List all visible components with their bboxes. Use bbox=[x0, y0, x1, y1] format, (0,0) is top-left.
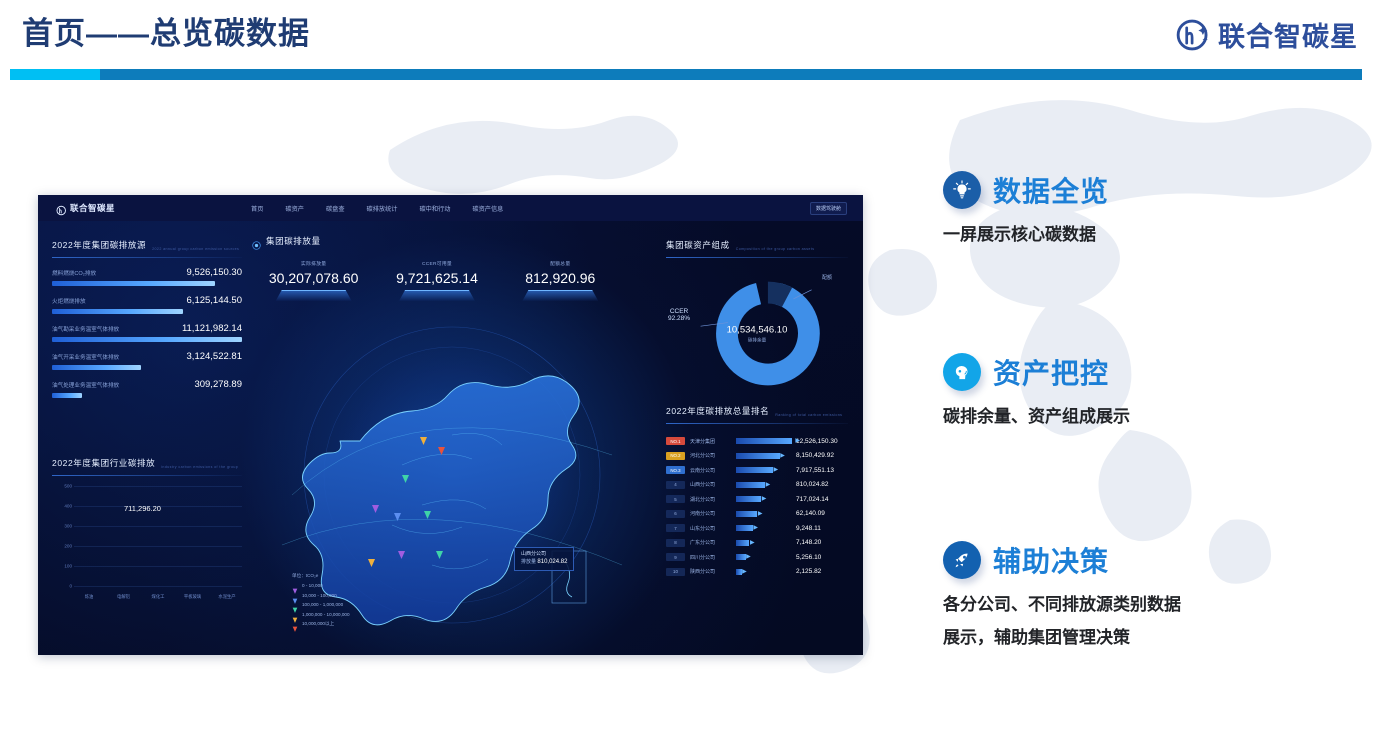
source-progress-bar bbox=[52, 393, 82, 398]
rank-value: 810,024.82 bbox=[796, 481, 848, 488]
feature-title: 资产把控 bbox=[993, 352, 1109, 392]
legend-pin-icon bbox=[292, 611, 298, 618]
dashboard-logo: 联合智碳星 bbox=[56, 202, 115, 214]
ranking-list: NO.1 天津分集团 ▶ 12,526,150.30 NO.2 河北分公司 ▶ bbox=[666, 434, 848, 579]
legend-label: 10,000,000以上 bbox=[302, 621, 334, 627]
rank-company: 广东分公司 bbox=[690, 539, 732, 546]
rank-company: 山东分公司 bbox=[690, 525, 732, 532]
map-tooltip: 山西分公司 排放量 810,024.82 bbox=[514, 547, 574, 571]
source-value: 3,124,522.81 bbox=[187, 351, 242, 362]
legend-pin-icon bbox=[292, 620, 298, 627]
table-row: NO.2 河北分公司 ▶ 8,150,429.92 bbox=[666, 449, 848, 464]
kpi-label: 配额总量 bbox=[502, 260, 618, 267]
rank-badge: 6 bbox=[666, 510, 685, 518]
legend-label: 0 - 10,000 bbox=[302, 583, 323, 588]
rank-bar-track: ▶ bbox=[736, 482, 792, 488]
rank-bar-track: ▶ bbox=[736, 511, 792, 517]
rank-company: 河北分公司 bbox=[690, 452, 732, 459]
source-label: 燃料燃烧CO₂排放 bbox=[52, 269, 96, 277]
head-profile-icon bbox=[943, 353, 981, 391]
rank-badge: 8 bbox=[666, 539, 685, 547]
tooltip-metric-value: 810,024.82 bbox=[537, 559, 567, 565]
source-value: 9,526,150.30 bbox=[187, 267, 242, 278]
dashboard-menu-item-1[interactable]: 碳资产 bbox=[285, 204, 304, 213]
panel-subtitle: industry carbon emissions of the group bbox=[161, 465, 238, 469]
donut-center-label: 10,534,546.10 碳排余量 bbox=[727, 324, 788, 343]
divider-main-segment bbox=[100, 69, 1362, 80]
feature-asset-control: 资产把控 碳排余量、资产组成展示 bbox=[943, 352, 1343, 433]
emission-source-item: 油气处理业务温室气体排放 309,278.89 bbox=[52, 379, 242, 398]
feature-description-line: 展示，辅助集团管理决策 bbox=[943, 621, 1343, 654]
kpi-label: CCER可用量 bbox=[379, 260, 495, 267]
target-dot-icon bbox=[252, 237, 261, 246]
rank-badge: 9 bbox=[666, 553, 685, 561]
rank-company: 湖北分公司 bbox=[690, 496, 732, 503]
feature-header: 资产把控 bbox=[943, 352, 1343, 392]
rank-badge: NO.2 bbox=[666, 452, 685, 460]
slide-root: 首页——总览碳数据 联合智碳星 bbox=[0, 0, 1376, 737]
legend-title: 单位：tCO₂e bbox=[292, 573, 350, 579]
rank-bar-track: ▶ bbox=[736, 467, 792, 473]
dashboard-menu[interactable]: 首页 碳资产 碳盘查 碳排放统计 碳中和行动 碳资产信息 bbox=[251, 204, 503, 213]
legend-label: 1,000,000 - 10,000,000 bbox=[302, 612, 350, 617]
feature-description-line: 各分公司、不同排放源类别数据 bbox=[943, 588, 1343, 621]
source-label: 油气处理业务温室气体排放 bbox=[52, 381, 119, 389]
rank-bar-track: ▶ bbox=[736, 453, 792, 459]
dashboard-navbar: 联合智碳星 首页 碳资产 碳盘查 碳排放统计 碳中和行动 碳资产信息 数据驾驶舱 bbox=[38, 195, 863, 221]
kpi-label: 实际排放量 bbox=[256, 260, 372, 267]
panel-header: 2022年度集团行业碳排放 industry carbon emissions … bbox=[52, 457, 242, 469]
legend-item: 0 - 10,000 bbox=[292, 582, 350, 589]
rank-company: 陕西分公司 bbox=[690, 568, 732, 575]
rank-badge: 10 bbox=[666, 568, 685, 576]
emission-source-item: 油气开采业务温室气体排放 3,124,522.81 bbox=[52, 351, 242, 370]
chart-bars bbox=[78, 486, 238, 586]
table-row: 4 山西分公司 ▶ 810,024.82 bbox=[666, 478, 848, 493]
dashboard-menu-item-2[interactable]: 碳盘查 bbox=[326, 204, 345, 213]
legend-item: 10,000,000以上 bbox=[292, 620, 350, 627]
panel-title: 2022年度集团行业碳排放 bbox=[52, 457, 155, 469]
table-row: NO.1 天津分集团 ▶ 12,526,150.30 bbox=[666, 434, 848, 449]
rank-value: 5,256.10 bbox=[796, 554, 848, 561]
panel-subtitle: Ranking of total carbon emissions bbox=[775, 413, 842, 417]
table-row: 7 山东分公司 ▶ 9,248.11 bbox=[666, 521, 848, 536]
rank-bar-track: ▶ bbox=[736, 569, 792, 575]
feature-decision-support: 辅助决策 各分公司、不同排放源类别数据 展示，辅助集团管理决策 bbox=[943, 540, 1343, 654]
chart-gridline bbox=[74, 586, 242, 587]
legend-label: 100,000 - 1,000,000 bbox=[302, 602, 343, 607]
chart-plot-area: 500 400 300 200 100 0 711,296.20 bbox=[52, 486, 242, 604]
feature-description: 各分公司、不同排放源类别数据 展示，辅助集团管理决策 bbox=[943, 588, 1343, 654]
group-emissions-panel: 集团碳排放量 实际排放量 30,207,078.60 CCER可用量 9,721… bbox=[252, 235, 622, 301]
map-legend: 单位：tCO₂e 0 - 10,000 10,000 - 100,000 bbox=[292, 573, 350, 627]
x-tick: 电解铝 bbox=[113, 594, 135, 600]
x-tick: 煤化工 bbox=[147, 594, 169, 600]
dashboard-menu-item-4[interactable]: 碳中和行动 bbox=[419, 204, 450, 213]
kpi-value: 9,721,625.14 bbox=[379, 270, 495, 286]
assets-donut-chart: 10,534,546.10 碳排余量 CCER 92.28% 配额 bbox=[666, 266, 848, 401]
header-divider bbox=[10, 69, 1362, 80]
feature-title: 辅助决策 bbox=[993, 540, 1109, 580]
industry-emissions-chart: 2022年度集团行业碳排放 industry carbon emissions … bbox=[52, 457, 242, 604]
rank-company: 天津分集团 bbox=[690, 438, 732, 445]
source-value: 11,121,982.14 bbox=[182, 323, 242, 334]
source-label: 火炬燃烧排放 bbox=[52, 297, 86, 305]
rank-badge: 4 bbox=[666, 481, 685, 489]
panel-header: 集团碳排放量 bbox=[252, 235, 622, 247]
table-row: 5 湖北分公司 ▶ 717,024.14 bbox=[666, 492, 848, 507]
panel-header: 集团碳资产组成 Composition of the group carbon … bbox=[666, 239, 848, 251]
emission-source-item: 火炬燃烧排放 6,125,144.50 bbox=[52, 295, 242, 314]
dashboard-menu-item-3[interactable]: 碳排放统计 bbox=[367, 204, 398, 213]
rank-badge: NO.3 bbox=[666, 466, 685, 474]
donut-slice-name: CCER bbox=[668, 308, 690, 315]
rank-bar-track: ▶ bbox=[736, 438, 792, 444]
dashboard-logo-text: 联合智碳星 bbox=[70, 202, 115, 214]
feature-description: 碳排余量、资产组成展示 bbox=[943, 400, 1343, 433]
table-row: 6 河南分公司 ▶ 62,140.09 bbox=[666, 507, 848, 522]
panel-title: 集团碳排放量 bbox=[266, 235, 321, 247]
feature-title: 数据全览 bbox=[993, 170, 1109, 210]
source-progress-bar bbox=[52, 337, 242, 342]
rank-company: 四川分公司 bbox=[690, 554, 732, 561]
rank-value: 62,140.09 bbox=[796, 510, 848, 517]
dashboard-logo-icon bbox=[56, 203, 67, 214]
tooltip-title: 山西分公司 bbox=[521, 551, 567, 558]
rank-value: 7,917,551.13 bbox=[796, 467, 848, 474]
feature-header: 数据全览 bbox=[943, 170, 1343, 210]
dashboard-user-button[interactable]: 数据驾驶舱 bbox=[810, 202, 847, 215]
tooltip-metric-label: 排放量 bbox=[521, 559, 536, 565]
carbon-assets-panel: 集团碳资产组成 Composition of the group carbon … bbox=[666, 239, 848, 579]
legend-item: 10,000 - 100,000 bbox=[292, 592, 350, 599]
panel-underline bbox=[52, 475, 242, 476]
legend-label: 10,000 - 100,000 bbox=[302, 593, 337, 598]
y-tick: 300 bbox=[64, 524, 72, 529]
panel-underline bbox=[52, 257, 242, 258]
kpi-value: 30,207,078.60 bbox=[256, 270, 372, 286]
brand: 联合智碳星 bbox=[1175, 15, 1358, 54]
rank-bar-track: ▶ bbox=[736, 554, 792, 560]
kpi-plate bbox=[522, 290, 598, 301]
rank-value: 8,150,429.92 bbox=[796, 452, 848, 459]
table-row: 9 四川分公司 ▶ 5,256.10 bbox=[666, 550, 848, 565]
source-progress-bar bbox=[52, 309, 183, 314]
panel-title: 集团碳资产组成 bbox=[666, 239, 730, 251]
dashboard-menu-item-0[interactable]: 首页 bbox=[251, 204, 263, 213]
brand-logo-icon bbox=[1175, 17, 1211, 53]
kpi-card: CCER可用量 9,721,625.14 bbox=[379, 260, 495, 301]
kpi-plate bbox=[276, 290, 352, 301]
rank-badge: 7 bbox=[666, 524, 685, 532]
y-tick: 500 bbox=[64, 484, 72, 489]
lightbulb-icon bbox=[943, 171, 981, 209]
rank-value: 9,248.11 bbox=[796, 525, 848, 532]
feature-header: 辅助决策 bbox=[943, 540, 1343, 580]
table-row: 8 广东分公司 ▶ 7,148.20 bbox=[666, 536, 848, 551]
y-tick: 0 bbox=[69, 584, 72, 589]
y-tick: 400 bbox=[64, 504, 72, 509]
legend-pin-icon bbox=[292, 601, 298, 608]
table-row: 10 陕西分公司 ▶ 2,125.82 bbox=[666, 565, 848, 580]
panel-header: 2022年度集团碳排放源 2022 annual group carbon em… bbox=[52, 239, 242, 251]
kpi-row: 实际排放量 30,207,078.60 CCER可用量 9,721,625.14… bbox=[252, 260, 622, 301]
panel-underline bbox=[666, 257, 848, 258]
source-value: 309,278.89 bbox=[194, 379, 242, 390]
rank-bar-track: ▶ bbox=[736, 496, 792, 502]
feature-description-line: 碳排余量、资产组成展示 bbox=[943, 400, 1343, 433]
rank-value: 717,024.14 bbox=[796, 496, 848, 503]
source-value: 6,125,144.50 bbox=[187, 295, 242, 306]
rocket-icon bbox=[943, 541, 981, 579]
x-tick: 炼油 bbox=[78, 594, 100, 600]
rank-value: 2,125.82 bbox=[796, 568, 848, 575]
y-tick: 200 bbox=[64, 544, 72, 549]
feature-description: 一屏展示核心碳数据 bbox=[943, 218, 1343, 251]
donut-slice-percent: 92.28% bbox=[668, 315, 690, 322]
table-row: NO.3 云南分公司 ▶ 7,917,551.13 bbox=[666, 463, 848, 478]
source-progress-bar bbox=[52, 365, 141, 370]
rank-badge: NO.1 bbox=[666, 437, 685, 445]
emission-source-item: 燃料燃烧CO₂排放 9,526,150.30 bbox=[52, 267, 242, 286]
kpi-value: 812,920.96 bbox=[502, 270, 618, 286]
dashboard-screenshot: 联合智碳星 首页 碳资产 碳盘查 碳排放统计 碳中和行动 碳资产信息 数据驾驶舱… bbox=[38, 195, 863, 655]
china-map[interactable]: 山西分公司 排放量 810,024.82 单位：tCO₂e 0 - 10,000 bbox=[252, 315, 652, 635]
source-progress-bar bbox=[52, 281, 215, 286]
source-label: 油气开采业务温室气体排放 bbox=[52, 353, 119, 361]
legend-pin-icon bbox=[292, 592, 298, 599]
panel-title: 2022年度集团碳排放源 bbox=[52, 239, 146, 251]
x-tick: 水泥生产 bbox=[216, 594, 238, 600]
feature-description-line: 一屏展示核心碳数据 bbox=[943, 218, 1343, 251]
x-tick: 平板玻璃 bbox=[182, 594, 204, 600]
panel-underline bbox=[666, 423, 848, 424]
donut-center-value: 10,534,546.10 bbox=[727, 324, 788, 335]
donut-slice-label-quota: 配额 bbox=[822, 274, 832, 281]
y-tick: 100 bbox=[64, 564, 72, 569]
chart-x-axis: 炼油 电解铝 煤化工 平板玻璃 水泥生产 bbox=[78, 594, 238, 600]
panel-title: 2022年度碳排放总量排名 bbox=[666, 405, 769, 417]
source-label: 油气勘采业务温室气体排放 bbox=[52, 325, 119, 333]
dashboard-menu-item-5[interactable]: 碳资产信息 bbox=[472, 204, 503, 213]
page-title: 首页——总览碳数据 bbox=[22, 8, 310, 53]
rank-bar-track: ▶ bbox=[736, 540, 792, 546]
donut-center-caption: 碳排余量 bbox=[727, 337, 788, 343]
panel-header: 2022年度碳排放总量排名 Ranking of total carbon em… bbox=[666, 405, 848, 417]
rank-bar-track: ▶ bbox=[736, 525, 792, 531]
panel-subtitle: Composition of the group carbon assets bbox=[736, 247, 815, 251]
rank-value: 12,526,150.30 bbox=[796, 438, 848, 445]
rank-badge: 5 bbox=[666, 495, 685, 503]
rank-value: 7,148.20 bbox=[796, 539, 848, 546]
kpi-card: 实际排放量 30,207,078.60 bbox=[256, 260, 372, 301]
legend-item: 100,000 - 1,000,000 bbox=[292, 601, 350, 608]
divider-accent-segment bbox=[10, 69, 100, 80]
legend-pin-icon bbox=[292, 582, 298, 589]
kpi-plate bbox=[399, 290, 475, 301]
rank-company: 河南分公司 bbox=[690, 510, 732, 517]
kpi-card: 配额总量 812,920.96 bbox=[502, 260, 618, 301]
panel-subtitle: 2022 annual group carbon emission source… bbox=[152, 247, 239, 251]
emission-sources-panel: 2022年度集团碳排放源 2022 annual group carbon em… bbox=[52, 239, 242, 398]
rank-company: 山西分公司 bbox=[690, 481, 732, 488]
rank-company: 云南分公司 bbox=[690, 467, 732, 474]
donut-slice-label-ccer: CCER 92.28% bbox=[668, 308, 690, 322]
brand-name: 联合智碳星 bbox=[1218, 15, 1358, 54]
chart-y-axis: 500 400 300 200 100 0 bbox=[52, 486, 74, 586]
emission-source-item: 油气勘采业务温室气体排放 11,121,982.14 bbox=[52, 323, 242, 342]
legend-item: 1,000,000 - 10,000,000 bbox=[292, 611, 350, 618]
feature-data-overview: 数据全览 一屏展示核心碳数据 bbox=[943, 170, 1343, 251]
